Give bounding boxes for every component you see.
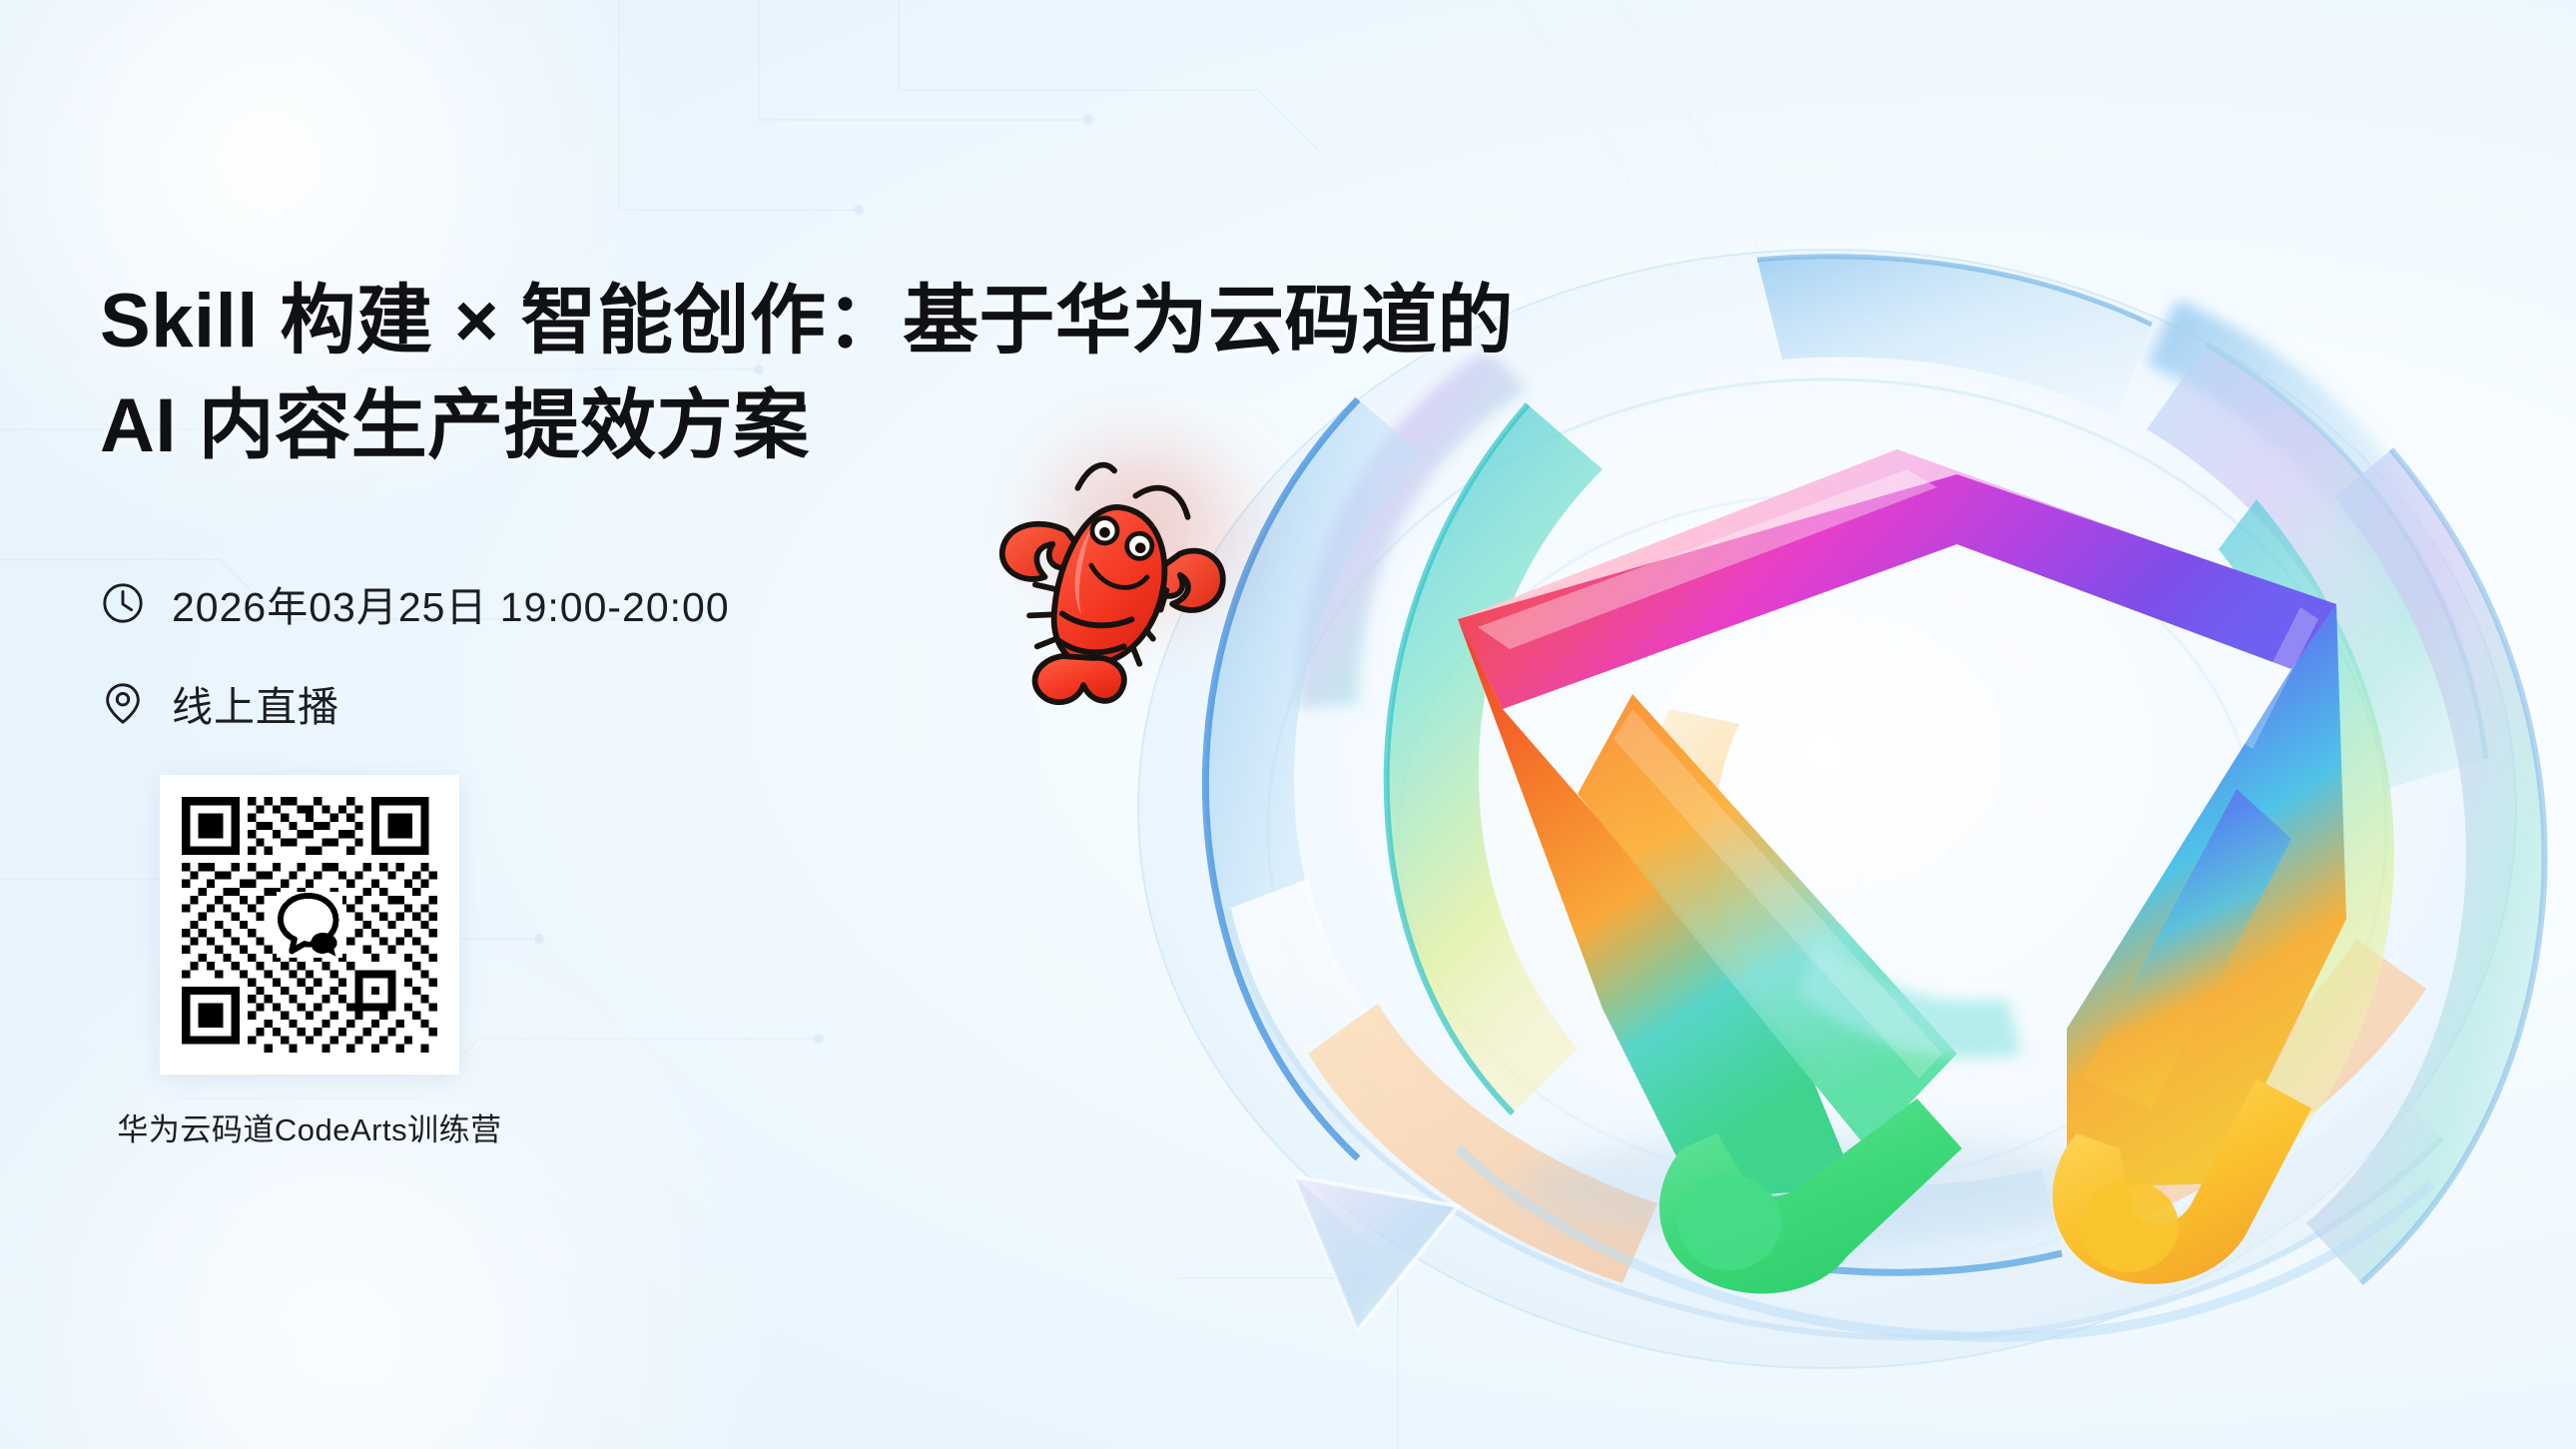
artwork-front-arc (1458, 1148, 2431, 1337)
poster-content: Skill 构建 × 智能创作：基于华为云码道的 AI 内容生产提效方案 202… (100, 270, 1448, 1149)
event-location-row: 线上直播 (100, 673, 1448, 733)
qr-caption: 华为云码道CodeArts训练营 (100, 1104, 519, 1149)
event-datetime-row: 2026年03月25日 19:00-20:00 (100, 573, 1448, 633)
page-title: Skill 构建 × 智能创作：基于华为云码道的 AI 内容生产提效方案 (100, 270, 1448, 479)
headline-line-2: AI 内容生产提效方案 (100, 374, 1448, 479)
artwork-rainbow-ribbon (1458, 449, 2346, 1293)
event-datetime-text: 2026年03月25日 19:00-20:00 (172, 573, 730, 633)
event-location-text: 线上直播 (172, 673, 339, 733)
artwork-glass-prism (1294, 1176, 1458, 1330)
qr-code[interactable] (160, 775, 459, 1075)
location-pin-icon (100, 680, 146, 726)
qr-block: 华为云码道CodeArts训练营 (100, 775, 519, 1149)
qr-code-matrix (174, 789, 445, 1061)
headline-line-1: Skill 构建 × 智能创作：基于华为云码道的 (100, 270, 1448, 374)
clock-icon (100, 580, 146, 626)
event-meta: 2026年03月25日 19:00-20:00 线上直播 (100, 573, 1448, 733)
event-poster: Skill 构建 × 智能创作：基于华为云码道的 AI 内容生产提效方案 202… (0, 0, 2576, 1449)
